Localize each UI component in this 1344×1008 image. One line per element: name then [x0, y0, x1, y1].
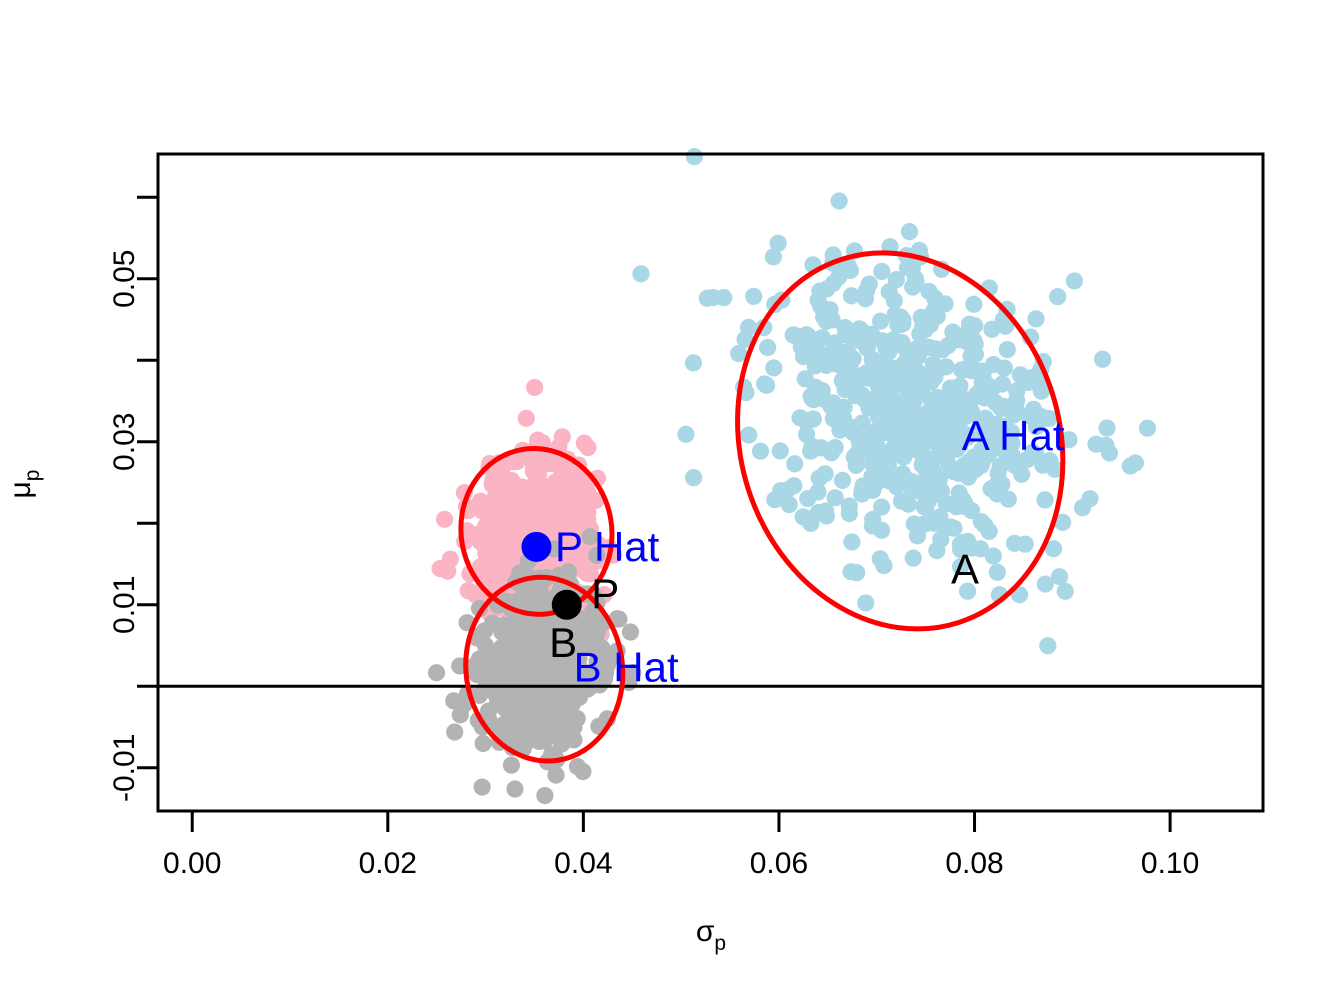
scatter-point: [489, 467, 506, 484]
scatter-point: [957, 333, 974, 350]
scatter-point: [842, 353, 859, 370]
scatter-point: [547, 766, 564, 783]
scatter-point: [954, 491, 971, 508]
scatter-point: [907, 273, 924, 290]
scatter-point: [1019, 374, 1036, 391]
scatter-point: [428, 664, 445, 681]
scatter-point: [569, 758, 586, 775]
scatter-point: [759, 339, 776, 356]
scatter-point: [873, 263, 890, 280]
scatter-point: [685, 354, 702, 371]
scatter-point: [533, 458, 550, 475]
scatter-point: [526, 379, 543, 396]
scatter-point: [740, 426, 757, 443]
scatter-point: [525, 724, 542, 741]
scatter-point: [804, 390, 821, 407]
y-axis-tick-label: -0.01: [108, 734, 141, 802]
scatter-point: [864, 517, 881, 534]
scatter-point: [622, 623, 639, 640]
scatter-point: [446, 723, 463, 740]
scatter-point: [474, 778, 491, 795]
scatter-point: [816, 465, 833, 482]
scatter-point: [910, 434, 927, 451]
scatter-point: [809, 483, 826, 500]
scatter-point: [963, 362, 980, 379]
scatter-point: [442, 551, 459, 568]
scatter-point: [1049, 288, 1066, 305]
scatter-point: [781, 496, 798, 513]
scatter-point: [552, 475, 569, 492]
scatter-point: [927, 510, 944, 527]
scatter-point: [715, 289, 732, 306]
scatter-point: [536, 787, 553, 804]
scatter-point: [445, 692, 462, 709]
scatter-point: [889, 316, 906, 333]
scatter-point: [1094, 351, 1111, 368]
y-axis-tick-label: 0.01: [108, 576, 141, 634]
scatter-point: [827, 489, 844, 506]
scatter-point: [566, 709, 583, 726]
scatter-point: [489, 516, 506, 533]
scatter-point: [898, 401, 915, 418]
b-hat-label: B Hat: [574, 644, 679, 691]
scatter-point: [976, 517, 993, 534]
scatter-point: [1006, 535, 1023, 552]
scatter-point: [797, 370, 814, 387]
x-axis-title-subscript: p: [714, 932, 726, 955]
scatter-point: [867, 390, 884, 407]
scatter-point: [589, 622, 606, 639]
scatter-point: [530, 617, 547, 634]
scatter-point: [745, 288, 762, 305]
scatter-point: [1097, 437, 1114, 454]
scatter-point: [503, 757, 520, 774]
scatter-point: [928, 542, 945, 559]
p-point: [552, 590, 582, 620]
scatter-point: [685, 469, 702, 486]
scatter-point: [1051, 568, 1068, 585]
scatter-point: [909, 340, 926, 357]
scatter-point: [756, 375, 773, 392]
scatter-point: [567, 505, 584, 522]
scatter-point: [894, 465, 911, 482]
scatter-point: [916, 488, 933, 505]
y-axis-tick-label: 0.05: [108, 250, 141, 308]
scatter-point: [798, 413, 815, 430]
scatter-point: [900, 496, 917, 513]
scatter-point: [686, 148, 703, 165]
scatter-point: [1039, 637, 1056, 654]
scatter-point: [989, 564, 1006, 581]
scatter-point: [917, 460, 934, 477]
scatter-point: [905, 550, 922, 567]
scatter-point: [924, 394, 941, 411]
scatter-point: [506, 543, 523, 560]
scatter-point: [885, 417, 902, 434]
scatter-point: [999, 341, 1016, 358]
p-hat-point: [521, 532, 551, 562]
scatter-point: [815, 308, 832, 325]
plot-canvas: A HatAP HatPBB Hat 0.000.020.040.060.080…: [0, 0, 1344, 1008]
scatter-point: [518, 410, 535, 427]
scatter-point: [477, 650, 494, 667]
x-axis-tick-label: 0.00: [163, 847, 221, 880]
scatter-point: [834, 472, 851, 489]
scatter-point: [965, 296, 982, 313]
scatter-point: [857, 594, 874, 611]
scatter-point: [802, 443, 819, 460]
scatter-point: [474, 528, 491, 545]
scatter-point: [854, 367, 871, 384]
scatter-point: [677, 426, 694, 443]
scatter-point: [810, 504, 827, 521]
scatter-point: [939, 436, 956, 453]
scatter-point: [842, 563, 859, 580]
scatter-point: [576, 435, 593, 452]
scatter-point: [699, 290, 716, 307]
scatter-point: [543, 666, 560, 683]
scatter-point: [840, 261, 857, 278]
scatter-point: [843, 533, 860, 550]
scatter-point: [508, 518, 525, 535]
x-axis-tick-label: 0.10: [1141, 847, 1199, 880]
scatter-point: [859, 340, 876, 357]
scatter-point: [785, 477, 802, 494]
scatter-point: [868, 475, 885, 492]
scatter-point: [752, 443, 769, 460]
scatter-point: [1127, 454, 1144, 471]
y-axis-title-base: μ: [4, 481, 37, 498]
scatter-point: [853, 444, 870, 461]
scatter-point: [829, 398, 846, 415]
scatter-point: [529, 479, 546, 496]
scatter-point: [1098, 419, 1115, 436]
scatter-point: [827, 439, 844, 456]
scatter-point: [873, 498, 890, 515]
scatter-point: [861, 276, 878, 293]
x-axis-tick-label: 0.08: [945, 847, 1003, 880]
scatter-point: [546, 502, 563, 519]
scatter-point: [966, 317, 983, 334]
scatter-point: [870, 408, 887, 425]
scatter-point: [985, 356, 1002, 373]
scatter-point: [992, 458, 1009, 475]
scatter-point: [851, 320, 868, 337]
scatter-point: [809, 292, 826, 309]
scatter-point: [885, 331, 902, 348]
scatter-point: [945, 520, 962, 537]
scatter-point: [979, 380, 996, 397]
p-label: P: [591, 570, 619, 617]
x-axis-title-base: σ: [696, 915, 715, 948]
scatter-point: [938, 358, 955, 375]
a-hat-label: A Hat: [962, 412, 1065, 459]
p-hat-label: P Hat: [555, 523, 660, 570]
scatter-point: [1066, 272, 1083, 289]
scatter-point: [550, 702, 567, 719]
scatter-point: [1036, 491, 1053, 508]
scatter-point: [891, 436, 908, 453]
scatter-plot-figure: A HatAP HatPBB Hat 0.000.020.040.060.080…: [0, 0, 1344, 1008]
scatter-point: [436, 511, 453, 528]
a-label: A: [951, 546, 979, 593]
scatter-point: [934, 341, 951, 358]
scatter-point: [818, 357, 835, 374]
scatter-point: [905, 354, 922, 371]
x-axis-tick-label: 0.04: [554, 847, 612, 880]
scatter-point: [969, 457, 986, 474]
scatter-point: [500, 702, 517, 719]
scatter-point: [841, 505, 858, 522]
y-axis-tick-label: 0.03: [108, 413, 141, 471]
scatter-point: [911, 325, 928, 342]
scatter-point: [632, 265, 649, 282]
scatter-point: [516, 583, 533, 600]
scatter-point: [765, 359, 782, 376]
scatter-point: [554, 428, 571, 445]
scatter-point: [507, 615, 524, 632]
scatter-point: [943, 396, 960, 413]
scatter-point: [475, 735, 492, 752]
scatter-point: [793, 338, 810, 355]
scatter-point: [503, 495, 520, 512]
scatter-point: [872, 550, 889, 567]
scatter-point: [888, 271, 905, 288]
scatter-point: [488, 491, 505, 508]
scatter-point: [772, 442, 789, 459]
scatter-point: [1027, 310, 1044, 327]
x-axis-tick-label: 0.02: [359, 847, 417, 880]
scatter-point: [983, 480, 1000, 497]
scatter-point: [528, 658, 545, 675]
y-axis-title-subscript: p: [21, 470, 44, 482]
scatter-point: [770, 235, 787, 252]
scatter-point: [786, 455, 803, 472]
scatter-point: [831, 192, 848, 209]
scatter-point: [569, 482, 586, 499]
scatter-point: [1081, 490, 1098, 507]
scatter-point: [901, 223, 918, 240]
scatter-point: [843, 287, 860, 304]
scatter-point: [886, 292, 903, 309]
scatter-point: [913, 309, 930, 326]
scatter-point: [836, 381, 853, 398]
scatter-point: [1139, 420, 1156, 437]
scatter-point: [506, 780, 523, 797]
x-axis-tick-label: 0.06: [750, 847, 808, 880]
scatter-point: [477, 544, 494, 561]
